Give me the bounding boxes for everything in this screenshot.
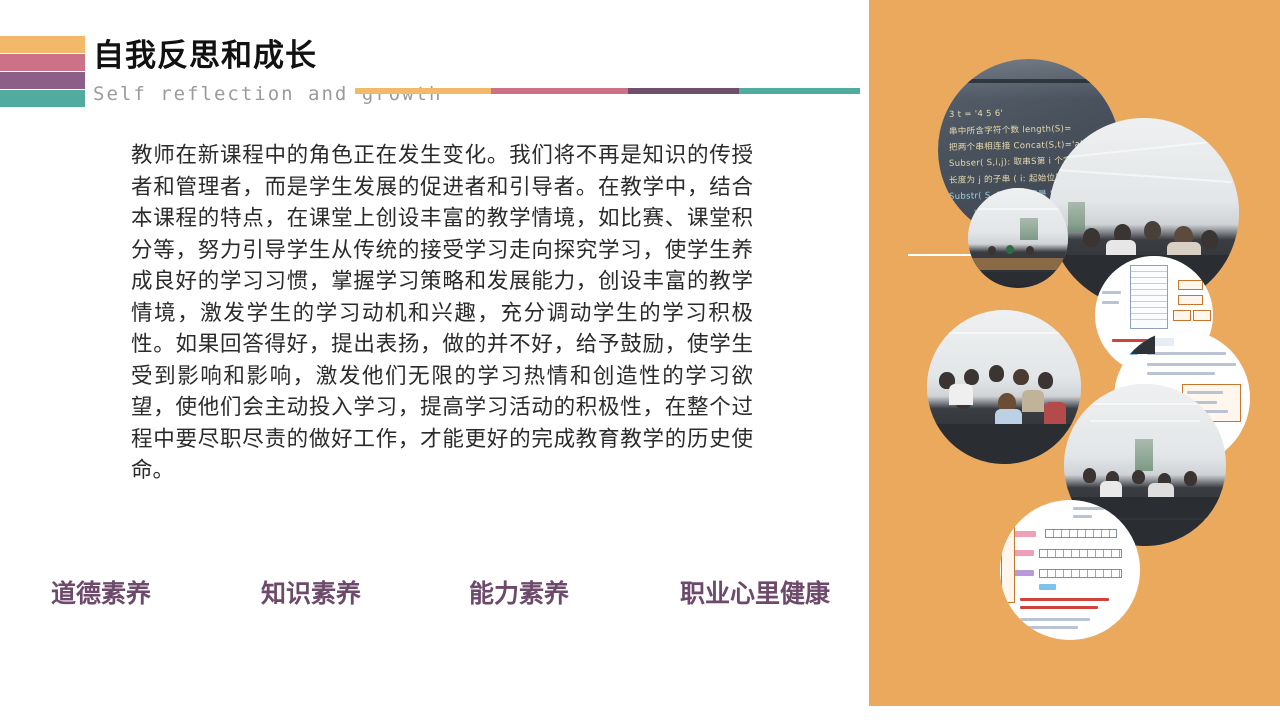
slide-text-line [1102, 301, 1119, 304]
slide-root: 自我反思和成长 Self reflection and growth 教师在新课… [0, 0, 1280, 720]
competency-row: 道德素养 知识素养 能力素养 职业心里健康 [40, 578, 840, 612]
slide-text-line [1020, 626, 1079, 629]
desk-row [972, 258, 1064, 270]
student-head [1184, 471, 1197, 486]
swatch-teal [0, 90, 85, 107]
photo-slide-boxes-image [1000, 500, 1140, 640]
page-subtitle: Self reflection and growth [93, 81, 853, 107]
competency-label-3: 职业心里健康 [680, 581, 830, 608]
window [1020, 218, 1038, 240]
slide-caption [1020, 606, 1098, 609]
ceiling-line [974, 208, 1062, 210]
collage-panel: 3 t = '4 5 6' 串中所含字符个数 length(S)= 把两个串相连… [869, 0, 1280, 706]
array-cells [1039, 569, 1122, 578]
competency-slot-3: 职业心里健康 [669, 578, 880, 612]
header-title-block: 自我反思和成长 Self reflection and growth [93, 36, 853, 107]
student-head [1013, 369, 1028, 386]
student-head [1144, 221, 1161, 240]
photo-classroom-small [968, 188, 1068, 288]
photo-classroom-front-image [927, 310, 1081, 464]
student-head [1038, 372, 1053, 389]
slide-text-line [1147, 363, 1237, 366]
ceiling-line [1090, 420, 1200, 422]
monitor-row [930, 424, 1078, 449]
ceiling-line [1065, 140, 1224, 159]
student-head [1083, 468, 1096, 483]
competency-slot-1: 知识素养 [251, 578, 461, 612]
window [1068, 202, 1085, 232]
slide-text-line [1020, 618, 1090, 621]
flow-node [1178, 280, 1204, 290]
divider-purple [628, 88, 739, 94]
divider-orange [355, 88, 491, 94]
photo-classroom-small-image [968, 188, 1068, 288]
slide-text-line [1147, 372, 1215, 375]
swatch-pink [0, 54, 85, 71]
slide-caption [1020, 598, 1110, 601]
blackboard-top-rail [938, 79, 1120, 83]
swatch-purple [0, 72, 85, 89]
student-torso [1022, 390, 1044, 412]
student-head [989, 365, 1004, 382]
student-head [1201, 230, 1218, 249]
photo-slide-boxes [1000, 500, 1140, 640]
competency-label-1: 知识素养 [261, 581, 361, 608]
flow-node [1173, 310, 1192, 320]
array-cells [1039, 549, 1122, 558]
slide-text-line [1073, 507, 1104, 510]
desk-row [976, 272, 1060, 285]
divider-teal [739, 88, 860, 94]
slide-table [1130, 265, 1167, 328]
ceiling-line [939, 332, 1068, 334]
slide-marker [1014, 570, 1034, 576]
flow-node [1193, 310, 1212, 320]
student-torso [949, 384, 974, 406]
swatch-orange [0, 36, 85, 53]
slide-marker [1014, 550, 1034, 556]
ceiling-line [1080, 403, 1210, 405]
slide-left-panel [1001, 522, 1014, 602]
student-head [1006, 245, 1014, 254]
student-head [1132, 470, 1145, 485]
header-swatch-stack [0, 36, 85, 107]
slide-text-line [1147, 352, 1226, 355]
divider-pink [491, 88, 627, 94]
header-divider [355, 88, 860, 94]
window [1135, 439, 1153, 471]
flow-node [1178, 295, 1204, 305]
slide-marker [1014, 531, 1036, 537]
student-head [964, 369, 979, 386]
slide-text-line [1102, 291, 1121, 294]
monitor-row [936, 447, 1072, 464]
student-head [1083, 228, 1100, 247]
ceiling-line [1057, 169, 1232, 183]
array-cells [1045, 529, 1117, 538]
competency-label-2: 能力素养 [469, 581, 569, 608]
competency-slot-2: 能力素养 [461, 578, 669, 612]
competency-slot-0: 道德素养 [40, 578, 251, 612]
photo-classroom-front [927, 310, 1081, 464]
student-head [988, 246, 996, 255]
competency-label-0: 道德素养 [51, 581, 151, 608]
photo-corner-shadow [1114, 330, 1155, 354]
page-title: 自我反思和成长 [93, 36, 853, 76]
body-paragraph: 教师在新课程中的角色正在发生变化。我们将不再是知识的传授者和管理者，而是学生发展… [131, 140, 753, 487]
slide-marker [1039, 584, 1056, 590]
slide-text-line [1073, 515, 1093, 518]
student-head [1026, 246, 1034, 255]
